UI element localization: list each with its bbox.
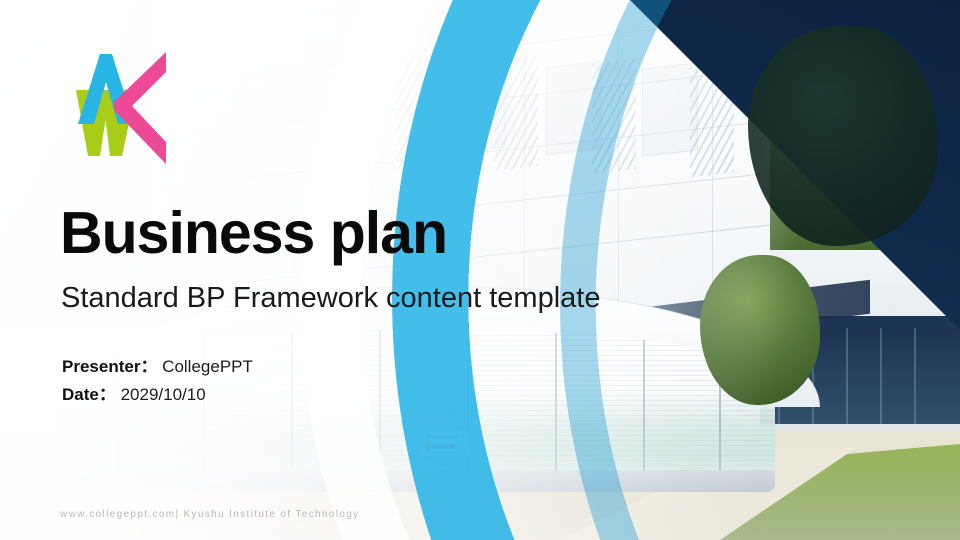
red-arrow-icon (425, 444, 455, 449)
page-subtitle: Standard BP Framework content template (61, 281, 600, 316)
presenter-separator: ： (140, 357, 157, 376)
direction-sign (418, 430, 470, 457)
presenter-value: CollegePPT (162, 357, 253, 376)
ak-monogram-icon (62, 48, 174, 168)
wall-poster (408, 370, 464, 428)
date-row: Date： 2029/10/10 (62, 381, 253, 409)
footer-credit: www.collegeppt.com| Kyushu Institute of … (60, 509, 360, 520)
date-separator: ： (99, 385, 116, 404)
date-label: Date (62, 385, 99, 404)
presentation-slide: Business plan Standard BP Framework cont… (0, 0, 960, 540)
ak-logo[interactable] (62, 48, 174, 168)
presenter-label: Presenter (62, 357, 140, 376)
tree (700, 255, 820, 405)
meta-block: Presenter： CollegePPT Date： 2029/10/10 (62, 353, 253, 408)
presenter-row: Presenter： CollegePPT (62, 353, 253, 381)
window-sill (55, 470, 775, 492)
page-title: Business plan (60, 203, 447, 265)
date-value: 2029/10/10 (121, 385, 206, 404)
